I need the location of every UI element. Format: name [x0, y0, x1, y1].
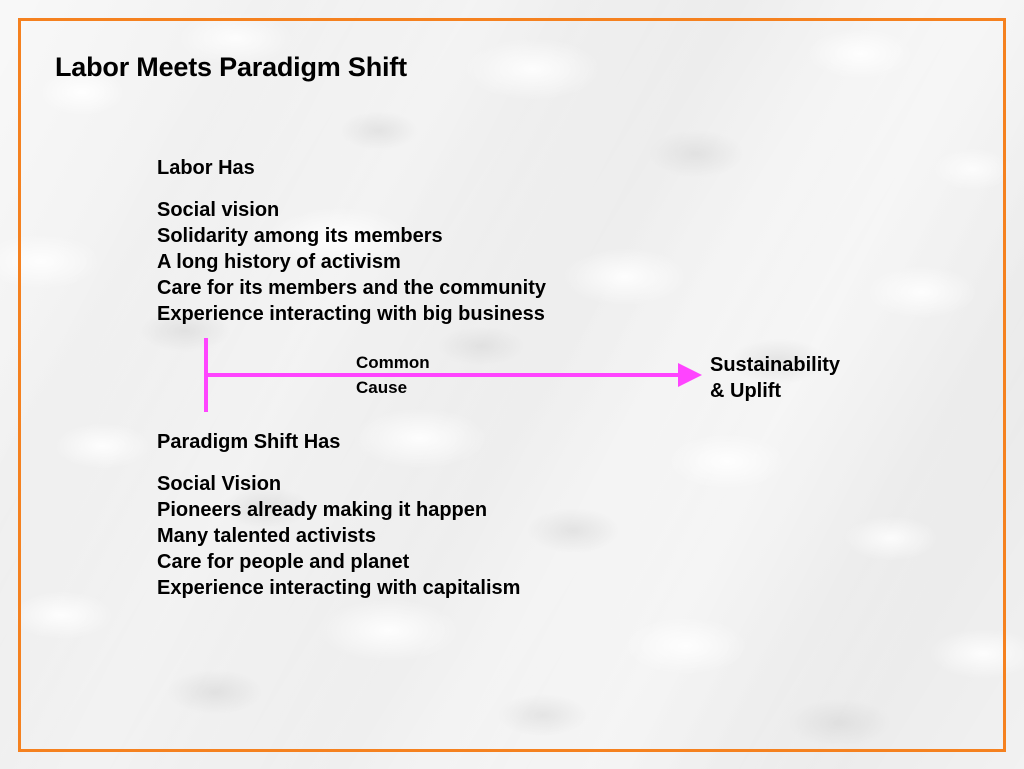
slide-content: Labor Meets Paradigm Shift Labor Has Soc…	[0, 0, 1024, 769]
list-item: Experience interacting with big business	[157, 301, 546, 327]
paradigm-block-heading: Paradigm Shift Has	[157, 431, 340, 454]
arrow-label-line2: Cause	[356, 378, 407, 398]
list-item: Solidarity among its members	[157, 223, 546, 249]
paradigm-block-list: Social Vision Pioneers already making it…	[157, 471, 520, 601]
outcome-label: Sustainability & Uplift	[710, 352, 840, 404]
outcome-line1: Sustainability	[710, 352, 840, 378]
slide-canvas: Labor Meets Paradigm Shift Labor Has Soc…	[0, 0, 1024, 769]
common-cause-arrow-diagram	[0, 0, 1024, 769]
labor-block-heading: Labor Has	[157, 157, 255, 180]
list-item: Social vision	[157, 197, 546, 223]
arrow-head-icon	[678, 363, 702, 387]
list-item: Many talented activists	[157, 523, 520, 549]
list-item: Social Vision	[157, 471, 520, 497]
page-title: Labor Meets Paradigm Shift	[55, 52, 407, 83]
list-item: A long history of activism	[157, 249, 546, 275]
list-item: Care for its members and the community	[157, 275, 546, 301]
list-item: Pioneers already making it happen	[157, 497, 520, 523]
outcome-line2: & Uplift	[710, 378, 840, 404]
list-item: Experience interacting with capitalism	[157, 575, 520, 601]
labor-block-list: Social vision Solidarity among its membe…	[157, 197, 546, 327]
list-item: Care for people and planet	[157, 549, 520, 575]
arrow-label-line1: Common	[356, 353, 430, 373]
